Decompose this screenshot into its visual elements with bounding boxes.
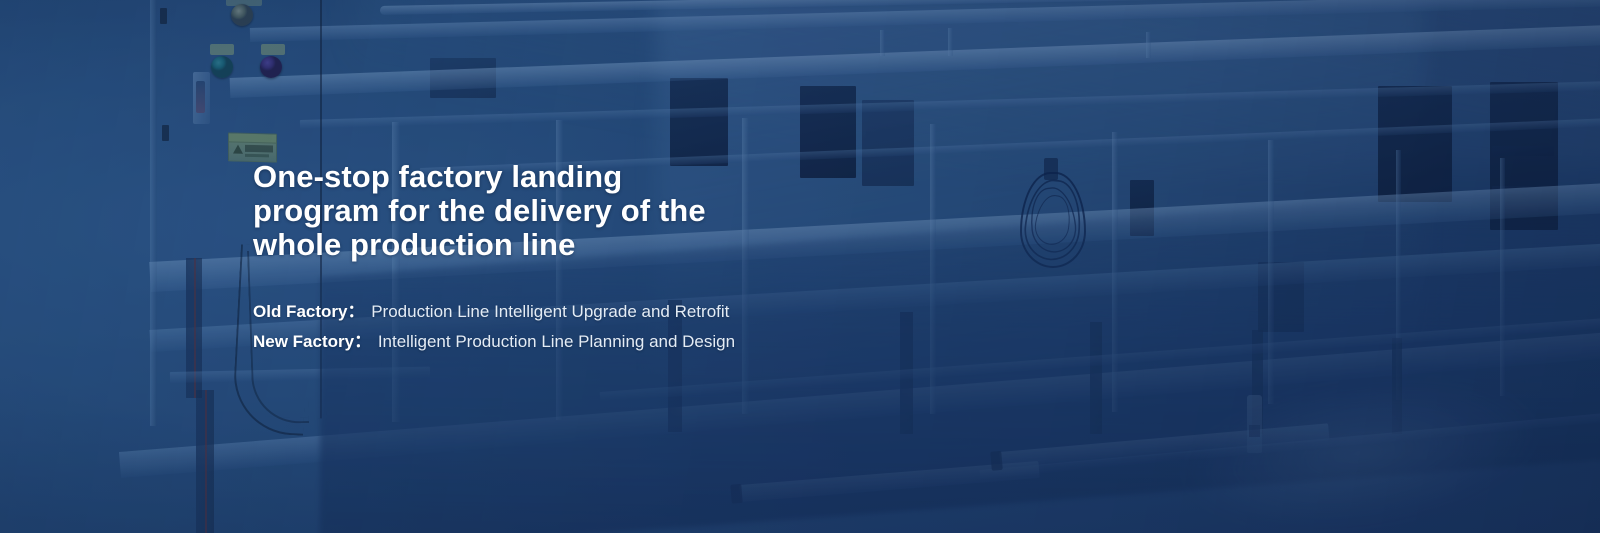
hero-content: One-stop factory landing program for the… [253,160,1013,361]
hero-subtitle-list: Old Factory： Production Line Intelligent… [253,301,1013,353]
old-factory-separator: ： [347,302,364,321]
old-factory-label: Old Factory [253,302,347,321]
new-factory-label: New Factory [253,332,354,351]
subtitle-old-factory: Old Factory： Production Line Intelligent… [253,301,1013,323]
new-factory-separator: ： [354,332,371,351]
hero-headline: One-stop factory landing program for the… [253,160,743,262]
subtitle-new-factory: New Factory： Intelligent Production Line… [253,331,1013,353]
old-factory-value: Production Line Intelligent Upgrade and … [371,302,729,321]
hero-banner: One-stop factory landing program for the… [0,0,1600,533]
new-factory-value: Intelligent Production Line Planning and… [378,332,735,351]
